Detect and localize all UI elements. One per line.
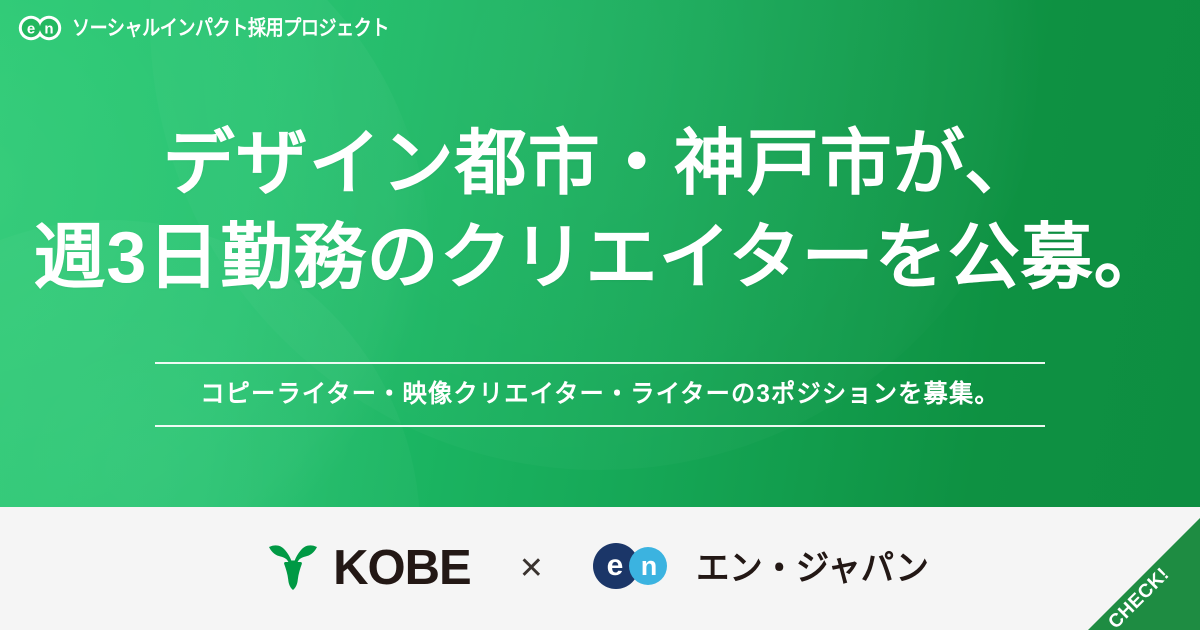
divider-bottom (155, 425, 1045, 427)
headline: デザイン都市・神戸市が、 週3日勤務のクリエイターを公募。 (0, 118, 1200, 305)
subtitle-block: コピーライター・映像クリエイター・ライターの3ポジションを募集。 (155, 362, 1045, 427)
kobe-logo: KOBE (265, 541, 471, 596)
headline-line-2: 週3日勤務のクリエイターを公募。 (0, 212, 1200, 306)
kobe-wordmark: KOBE (333, 544, 471, 593)
headline-line-1: デザイン都市・神戸市が、 (0, 118, 1200, 212)
project-label: ソーシャルインパクト採用プロジェクト (72, 17, 389, 39)
en-japan-logo: e n エン・ジャパン (592, 542, 935, 595)
logo-separator-times: ✕ (515, 554, 548, 584)
footer-logo-bar: KOBE ✕ e n エン・ジャパン (0, 507, 1200, 630)
svg-text:n: n (44, 21, 53, 38)
svg-text:e: e (27, 21, 35, 38)
en-japan-logo-icon: e n (592, 542, 676, 595)
hero-section: e n ソーシャルインパクト採用プロジェクト デザイン都市・神戸市が、 週3日勤… (0, 0, 1200, 507)
project-logo-lockup: e n ソーシャルインパクト採用プロジェクト (18, 12, 441, 44)
en-logo-icon: e n (18, 15, 64, 41)
check-ribbon-triangle (1088, 518, 1200, 630)
en-japan-wordmark: エン・ジャパン (696, 551, 929, 586)
svg-text:n: n (641, 551, 658, 581)
check-ribbon[interactable]: CHECK! (1088, 518, 1200, 630)
subtitle-text: コピーライター・映像クリエイター・ライターの3ポジションを募集。 (168, 364, 1031, 425)
kobe-city-emblem-icon (265, 541, 321, 596)
ogp-banner: e n ソーシャルインパクト採用プロジェクト デザイン都市・神戸市が、 週3日勤… (0, 0, 1200, 630)
svg-text:e: e (607, 549, 624, 582)
